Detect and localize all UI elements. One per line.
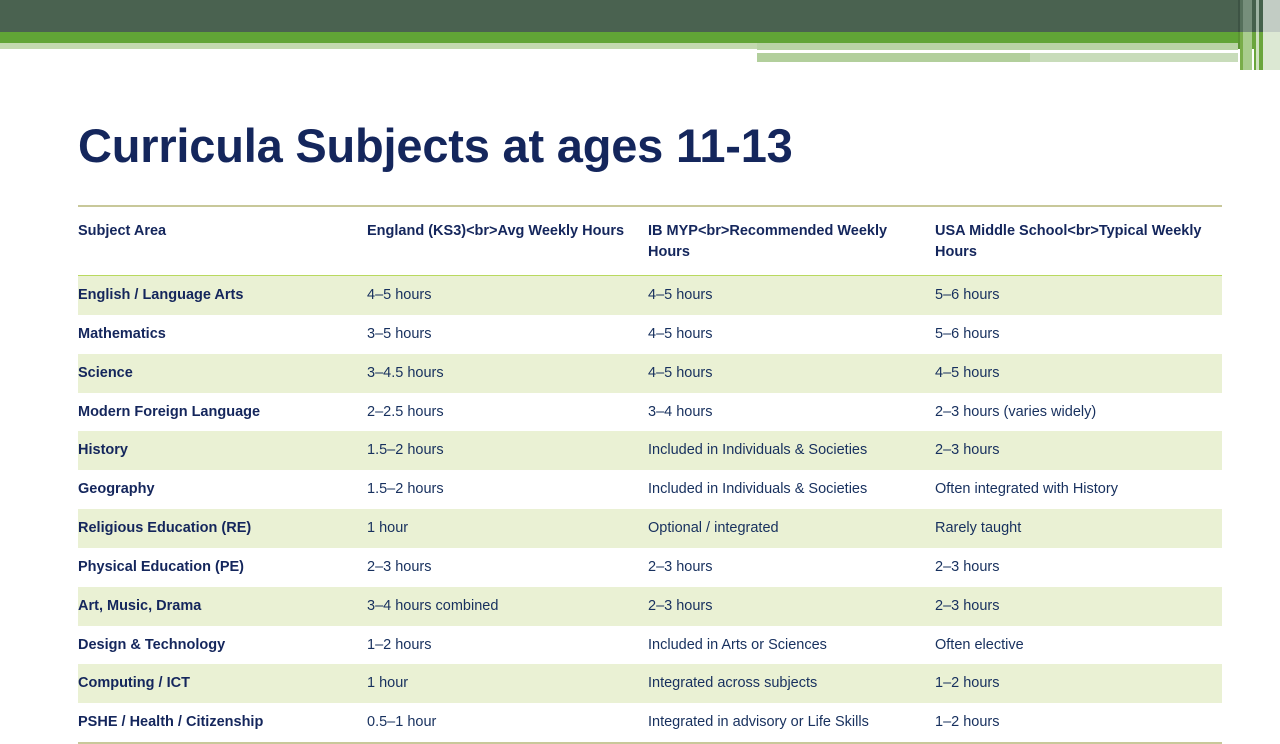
cell-england: 2–3 hours [367,548,648,587]
cell-usa: 4–5 hours [935,354,1222,393]
cell-subject: Geography [78,470,367,509]
cell-england: 4–5 hours [367,276,648,315]
cell-england: 0.5–1 hour [367,703,648,743]
cell-usa: 2–3 hours [935,587,1222,626]
banner-vertical-gap-1 [1238,49,1240,70]
table-body: English / Language Arts 4–5 hours 4–5 ho… [78,276,1222,744]
column-header-ib-myp: IB MYP<br>Recommended Weekly Hours [648,206,935,276]
cell-ib: 3–4 hours [648,393,935,432]
cell-ib: 2–3 hours [648,548,935,587]
table-row: PSHE / Health / Citizenship 0.5–1 hour I… [78,703,1222,743]
banner-band-mid-green [0,32,1280,43]
page-title: Curricula Subjects at ages 11-13 [78,118,793,173]
cell-subject: Mathematics [78,315,367,354]
banner-vertical-stripe-lower-3 [1243,32,1252,70]
cell-usa: 1–2 hours [935,664,1222,703]
table-row: Art, Music, Drama 3–4 hours combined 2–3… [78,587,1222,626]
table-row: Modern Foreign Language 2–2.5 hours 3–4 … [78,393,1222,432]
cell-england: 1 hour [367,664,648,703]
cell-subject: English / Language Arts [78,276,367,315]
cell-ib: Integrated across subjects [648,664,935,703]
banner-accent-gap-2 [757,62,1280,70]
column-header-usa-middle: USA Middle School<br>Typical Weekly Hour… [935,206,1222,276]
banner-vertical-stripe-lower-7 [1263,32,1280,70]
cell-england: 3–4 hours combined [367,587,648,626]
cell-ib: Optional / integrated [648,509,935,548]
cell-subject: History [78,431,367,470]
cell-england: 2–2.5 hours [367,393,648,432]
table-row: Mathematics 3–5 hours 4–5 hours 5–6 hour… [78,315,1222,354]
curricula-table-container: Subject Area England (KS3)<br>Avg Weekly… [78,205,1222,744]
table-row: History 1.5–2 hours Included in Individu… [78,431,1222,470]
cell-usa: 2–3 hours (varies widely) [935,393,1222,432]
cell-subject: Science [78,354,367,393]
cell-subject: Religious Education (RE) [78,509,367,548]
cell-england: 3–4.5 hours [367,354,648,393]
cell-usa: Often elective [935,626,1222,665]
table-row: Religious Education (RE) 1 hour Optional… [78,509,1222,548]
cell-subject: Art, Music, Drama [78,587,367,626]
table-row: Science 3–4.5 hours 4–5 hours 4–5 hours [78,354,1222,393]
banner-vertical-gap-2 [1252,49,1254,70]
banner-accent-stripe-1 [757,43,1280,50]
cell-subject: Modern Foreign Language [78,393,367,432]
cell-subject: Computing / ICT [78,664,367,703]
cell-england: 1.5–2 hours [367,470,648,509]
cell-ib: 4–5 hours [648,315,935,354]
cell-england: 1.5–2 hours [367,431,648,470]
cell-ib: 2–3 hours [648,587,935,626]
cell-ib: Integrated in advisory or Life Skills [648,703,935,743]
slide-header-banner [0,0,1280,70]
table-row: Geography 1.5–2 hours Included in Indivi… [78,470,1222,509]
banner-band-dark-green [0,0,1280,32]
table-row: English / Language Arts 4–5 hours 4–5 ho… [78,276,1222,315]
table-row: Design & Technology 1–2 hours Included i… [78,626,1222,665]
cell-usa: 1–2 hours [935,703,1222,743]
column-header-england-ks3: England (KS3)<br>Avg Weekly Hours [367,206,648,276]
cell-england: 3–5 hours [367,315,648,354]
cell-england: 1 hour [367,509,648,548]
cell-ib: Included in Individuals & Societies [648,470,935,509]
table-header: Subject Area England (KS3)<br>Avg Weekly… [78,206,1222,276]
cell-usa: Rarely taught [935,509,1222,548]
cell-subject: PSHE / Health / Citizenship [78,703,367,743]
table-row: Physical Education (PE) 2–3 hours 2–3 ho… [78,548,1222,587]
cell-ib: 4–5 hours [648,276,935,315]
cell-usa: 5–6 hours [935,315,1222,354]
cell-usa: 2–3 hours [935,548,1222,587]
cell-usa: 5–6 hours [935,276,1222,315]
cell-subject: Design & Technology [78,626,367,665]
cell-ib: 4–5 hours [648,354,935,393]
cell-ib: Included in Arts or Sciences [648,626,935,665]
cell-england: 1–2 hours [367,626,648,665]
table-header-row: Subject Area England (KS3)<br>Avg Weekly… [78,206,1222,276]
column-header-subject-area: Subject Area [78,206,367,276]
cell-usa: 2–3 hours [935,431,1222,470]
curricula-table: Subject Area England (KS3)<br>Avg Weekly… [78,205,1222,744]
cell-ib: Included in Individuals & Societies [648,431,935,470]
cell-subject: Physical Education (PE) [78,548,367,587]
cell-usa: Often integrated with History [935,470,1222,509]
table-row: Computing / ICT 1 hour Integrated across… [78,664,1222,703]
